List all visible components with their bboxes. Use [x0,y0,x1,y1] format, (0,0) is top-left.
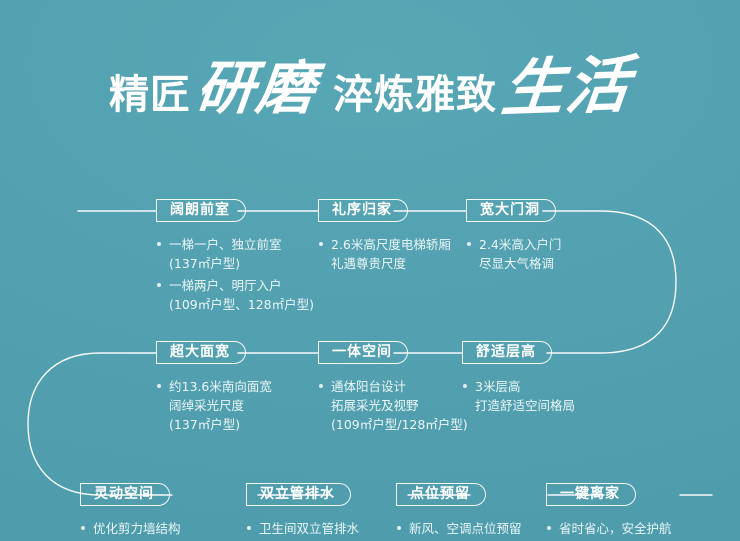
card-title: 点位预留 [410,486,470,502]
card-kuolang-qianshi[interactable]: 阔朗前室 一梯一户、独立前室 (137㎡户型) 一梯两户、明厅入户 (109㎡户… [156,199,314,317]
card-bullet-list: 省时省心，安全护航 [546,519,672,538]
bullet-line-2: 打造舒适空间格局 [475,396,575,415]
list-item: 约13.6米南向面宽 阔绰采光尺度 (137㎡户型) [156,377,272,434]
card-title-chip[interactable]: 一体空间 [318,341,408,364]
bullet-line-2: 礼遇尊贵尺度 [331,254,451,273]
list-item: 优化剪力墙结构 实现空间多变 [80,519,181,541]
card-bullet-list: 2.6米高尺度电梯轿厢 礼遇尊贵尺度 [318,235,451,273]
card-bullet-list: 2.4米高入户门 尽显大气格调 [466,235,561,273]
list-item: 2.6米高尺度电梯轿厢 礼遇尊贵尺度 [318,235,451,273]
poster-canvas: 精匠研磨淬炼雅致生活 [0,0,740,541]
card-title-chip[interactable]: 点位预留 [396,483,486,506]
card-title: 一键离家 [560,486,620,502]
card-bullet-list: 3米层高 打造舒适空间格局 [462,377,575,415]
bullet-line-1: 卫生间双立管排水 [259,521,359,536]
bullet-dot-icon [157,242,161,246]
page-title: 精匠研磨淬炼雅致生活 [0,36,740,126]
bullet-line-2: 阔绰采光尺度 [169,396,272,415]
bullet-line-2: 拓展采光及视野 [331,396,468,415]
bullet-line-2: (109㎡户型、128㎡户型) [169,295,314,314]
bullet-dot-icon [397,526,401,530]
wire-left-uturn [28,353,172,495]
card-title: 阔朗前室 [170,202,230,218]
card-title-chip[interactable]: 一键离家 [546,483,636,506]
card-title-chip[interactable]: 阔朗前室 [156,199,246,222]
bullet-dot-icon [319,384,323,388]
list-item: 3米层高 打造舒适空间格局 [462,377,575,415]
card-yiti-kongjian[interactable]: 一体空间 通体阳台设计 拓展采光及视野 (109㎡户型/128㎡户型) [318,341,468,437]
card-title: 双立管排水 [260,486,335,502]
card-dianwei-yuliu[interactable]: 点位预留 新风、空调点位预留 便于后期装修 [396,483,522,541]
bullet-dot-icon [547,526,551,530]
title-part-2: 研磨 [193,41,322,125]
bullet-line-1: 省时省心，安全护航 [559,521,672,536]
bullet-line-1: 2.4米高入户门 [479,237,561,252]
bullet-line-1: 新风、空调点位预留 [409,521,522,536]
card-title-chip[interactable]: 双立管排水 [246,483,351,506]
card-title-chip[interactable]: 灵动空间 [80,483,170,506]
bullet-dot-icon [157,384,161,388]
bullet-line-1: 通体阳台设计 [331,379,406,394]
list-item: 2.4米高入户门 尽显大气格调 [466,235,561,273]
card-title-chip[interactable]: 宽大门洞 [466,199,556,222]
bullet-line-1: 优化剪力墙结构 [93,521,181,536]
bullet-line-3: (137㎡户型) [169,415,272,434]
bullet-dot-icon [467,242,471,246]
bullet-line-1: 约13.6米南向面宽 [169,379,272,394]
title-part-3: 淬炼雅致 [333,62,497,120]
title-part-4: 生活 [498,34,636,128]
card-shushi-cenggao[interactable]: 舒适层高 3米层高 打造舒适空间格局 [462,341,575,418]
card-title-chip[interactable]: 礼序归家 [318,199,408,222]
card-kuanda-mendong[interactable]: 宽大门洞 2.4米高入户门 尽显大气格调 [466,199,561,276]
bullet-line-1: 一梯一户、独立前室 [169,237,282,252]
card-bullet-list: 一梯一户、独立前室 (137㎡户型) 一梯两户、明厅入户 (109㎡户型、128… [156,235,314,314]
card-title: 宽大门洞 [480,202,540,218]
card-lingdong-kongjian[interactable]: 灵动空间 优化剪力墙结构 实现空间多变 [80,483,181,541]
bullet-line-1: 3米层高 [475,379,520,394]
bullet-line-1: 2.6米高尺度电梯轿厢 [331,237,451,252]
list-item: 省时省心，安全护航 [546,519,672,538]
card-lixu-guijia[interactable]: 礼序归家 2.6米高尺度电梯轿厢 礼遇尊贵尺度 [318,199,451,276]
card-bullet-list: 优化剪力墙结构 实现空间多变 [80,519,181,541]
bullet-dot-icon [319,242,323,246]
card-title: 礼序归家 [332,202,392,218]
bullet-dot-icon [463,384,467,388]
card-yijian-lijia[interactable]: 一键离家 省时省心，安全护航 [546,483,672,541]
card-title-chip[interactable]: 超大面宽 [156,341,246,364]
list-item: 一梯两户、明厅入户 (109㎡户型、128㎡户型) [156,276,314,314]
card-title: 灵动空间 [94,486,154,502]
card-shuangliguan-paishui[interactable]: 双立管排水 卫生间双立管排水 有效防止异味 [246,483,359,541]
card-bullet-list: 卫生间双立管排水 有效防止异味 [246,519,359,541]
bullet-line-2: (137㎡户型) [169,254,314,273]
bullet-dot-icon [247,526,251,530]
bullet-line-2: 尽显大气格调 [479,254,561,273]
bullet-dot-icon [157,283,161,287]
list-item: 一梯一户、独立前室 (137㎡户型) [156,235,314,273]
card-bullet-list: 约13.6米南向面宽 阔绰采光尺度 (137㎡户型) [156,377,272,434]
list-item: 新风、空调点位预留 便于后期装修 [396,519,522,541]
bullet-dot-icon [81,526,85,530]
card-title: 一体空间 [332,344,392,360]
card-title: 舒适层高 [476,344,536,360]
card-bullet-list: 通体阳台设计 拓展采光及视野 (109㎡户型/128㎡户型) [318,377,468,434]
card-title-chip[interactable]: 舒适层高 [462,341,552,364]
card-chaoda-miankuan[interactable]: 超大面宽 约13.6米南向面宽 阔绰采光尺度 (137㎡户型) [156,341,272,437]
list-item: 通体阳台设计 拓展采光及视野 (109㎡户型/128㎡户型) [318,377,468,434]
card-bullet-list: 新风、空调点位预留 便于后期装修 [396,519,522,541]
bullet-line-1: 一梯两户、明厅入户 [169,278,282,293]
bullet-line-3: (109㎡户型/128㎡户型) [331,415,468,434]
title-part-1: 精匠 [109,62,191,120]
wire-right-uturn [543,211,676,353]
card-title: 超大面宽 [170,344,230,360]
list-item: 卫生间双立管排水 有效防止异味 [246,519,359,541]
